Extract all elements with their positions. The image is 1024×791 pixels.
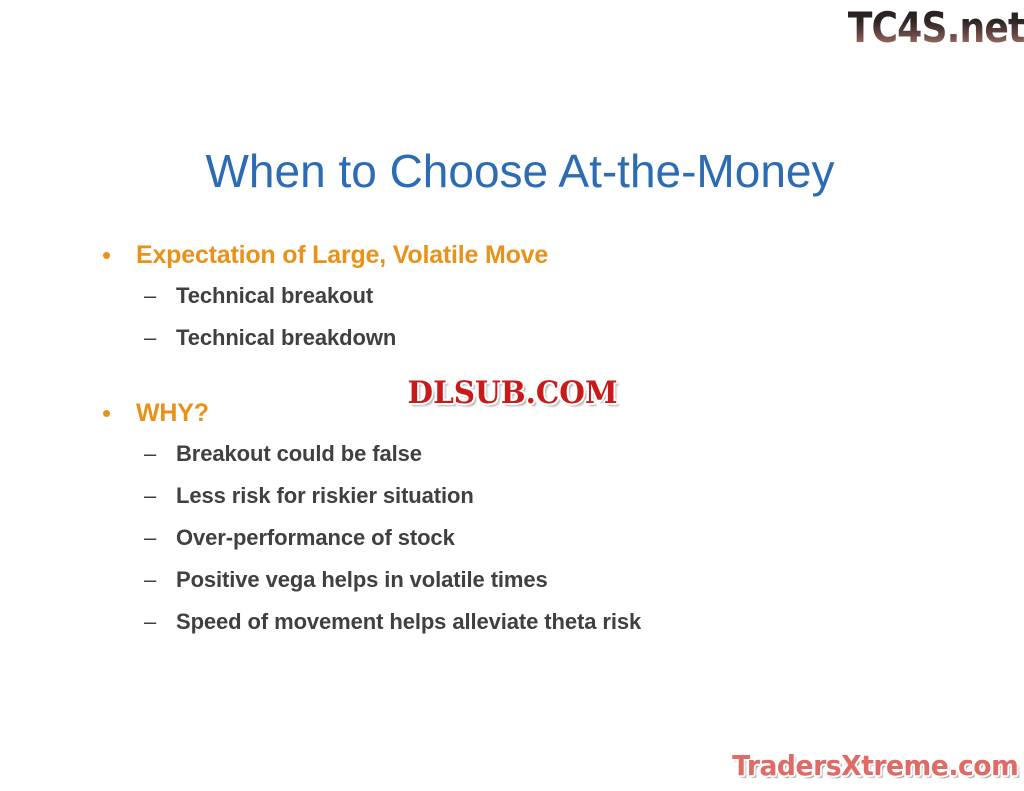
bullet-level2-label: Technical breakdown [176, 322, 396, 354]
bullet-dash-icon: – [144, 522, 176, 554]
bullet-level2-label: Technical breakout [176, 280, 373, 312]
bullet-level2-label: Breakout could be false [176, 438, 422, 470]
slide-body: • Expectation of Large, Volatile Move – … [96, 238, 956, 648]
bullet-level1: • WHY? [96, 396, 956, 434]
watermark-tradersxtreme: TradersXtreme.com [706, 746, 1018, 786]
bullet-level2-label: Positive vega helps in volatile times [176, 564, 548, 596]
slide-title: When to Choose At-the-Money [60, 143, 980, 199]
bullet-level1-label: WHY? [136, 396, 209, 430]
bullet-dash-icon: – [144, 438, 176, 470]
bullet-level2: – Technical breakdown [96, 322, 956, 355]
bullet-level2-label: Speed of movement helps alleviate theta … [176, 606, 641, 638]
bullet-dot-icon: • [96, 238, 136, 272]
bullet-level2: – Technical breakout [96, 280, 956, 313]
bullet-dash-icon: – [144, 606, 176, 638]
watermark-tradersxtreme-text: TradersXtreme.com [732, 750, 1018, 782]
bullet-dash-icon: – [144, 480, 176, 512]
bullet-group-spacer [96, 364, 956, 396]
presentation-slide: TC4S.net When to Choose At-the-Money • E… [0, 0, 1024, 791]
bullet-level2: – Positive vega helps in volatile times [96, 564, 956, 597]
watermark-tc4s: TC4S.net [818, 0, 1024, 56]
bullet-level2-label: Over-performance of stock [176, 522, 455, 554]
bullet-dash-icon: – [144, 280, 176, 312]
bullet-level2: – Speed of movement helps alleviate thet… [96, 606, 956, 639]
bullet-dot-icon: • [96, 396, 136, 430]
bullet-level2: – Breakout could be false [96, 438, 956, 471]
bullet-level2: – Over-performance of stock [96, 522, 956, 555]
bullet-level1-label: Expectation of Large, Volatile Move [136, 238, 548, 272]
bullet-level2: – Less risk for riskier situation [96, 480, 956, 513]
bullet-dash-icon: – [144, 322, 176, 354]
watermark-tc4s-text: TC4S.net [847, 6, 1024, 50]
bullet-level1: • Expectation of Large, Volatile Move [96, 238, 956, 276]
bullet-level2-label: Less risk for riskier situation [176, 480, 474, 512]
bullet-dash-icon: – [144, 564, 176, 596]
